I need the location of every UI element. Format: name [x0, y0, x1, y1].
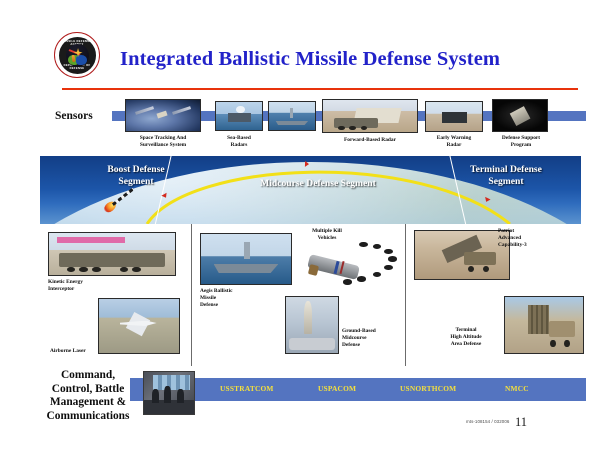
silo-base-icon: [289, 338, 335, 349]
segment-label-boost: Boost DefenseSegment: [70, 164, 202, 189]
satellite-body-icon: [157, 111, 168, 119]
defense-segments-band: Boost DefenseSegment Midcourse Defense S…: [40, 156, 581, 224]
caption-defense-support-program: Defense SupportProgram: [490, 135, 552, 149]
c2bmc-connector-bar: USSTRATCOM USPACOM USNORTHCOM NMCC: [130, 378, 586, 401]
truck-wheel-icon: [338, 126, 345, 130]
column-divider-midcourse-terminal: [405, 224, 406, 366]
thumb-kinetic-energy-interceptor: [48, 232, 176, 276]
thumb-early-warning-radar: [425, 101, 483, 132]
patriot-wheel-icon: [483, 266, 490, 273]
thumb-aegis-ballistic-missile-defense: [200, 233, 292, 285]
c2bmc-node-usnorthcom: USNORTHCOM: [400, 384, 456, 393]
caption-space-tracking-surveillance-system: Space Tracking AndSurveillance System: [106, 135, 220, 149]
command-center-display-wall-icon: [153, 375, 190, 389]
kill-vehicle-icon: [384, 265, 393, 270]
thumb-command-center: [143, 371, 195, 415]
column-divider-boost-midcourse: [191, 224, 192, 366]
truck-wheel-icon: [349, 126, 356, 130]
document-control-code: mts-108154 / 032006: [466, 419, 509, 424]
kei-transporter-icon: [59, 253, 165, 267]
kei-overlay-bar: [57, 237, 125, 243]
thaad-wheel-icon: [550, 340, 555, 348]
segment-label-terminal: Terminal DefenseSegment: [438, 164, 574, 189]
c2bmc-node-nmcc: NMCC: [505, 384, 529, 393]
thumb-forward-based-radar: [322, 99, 418, 133]
thumb-ground-based-midcourse-defense: [285, 296, 339, 354]
segment-label-midcourse: Midcourse Defense Segment: [186, 178, 450, 190]
patriot-wheel-icon: [468, 266, 475, 273]
caption-early-warning-radar: Early WarningRadar: [422, 135, 486, 149]
kill-vehicle-icon: [359, 242, 368, 247]
seal-emblem: [66, 44, 89, 67]
operator-silhouette-icon: [177, 389, 184, 403]
kill-vehicle-icon: [343, 279, 352, 284]
multiple-kill-vehicles-graphic: [300, 240, 398, 288]
intercept-marker-midcourse: [305, 161, 309, 167]
operator-silhouette-icon: [152, 389, 159, 403]
kei-wheel-icon: [92, 267, 101, 273]
page-number: 11: [515, 415, 527, 430]
kill-vehicle-icon: [388, 256, 397, 261]
thumb-sea-based-radars: [215, 101, 263, 131]
thaad-truck-cab-icon: [549, 321, 576, 338]
satellite-panel-left-icon: [135, 106, 154, 115]
caption-forward-based-radar: Forward-Based Radar: [306, 137, 434, 144]
kei-wheel-icon: [79, 267, 88, 273]
caption-aegis-ballistic-missile-defense: Aegis BallisticMissileDefense: [200, 288, 264, 309]
kill-vehicle-icon: [373, 244, 382, 249]
sea-platform-icon: [228, 113, 251, 121]
thumb-patriot-advanced-capability-3: [414, 230, 510, 280]
kill-vehicle-icon: [357, 276, 366, 281]
caption-patriot-advanced-capability-3: PatriotAdvancedCapability-3: [498, 228, 562, 249]
ship-mast-icon: [290, 108, 293, 118]
caption-ground-based-midcourse-defense: Ground-BasedMidcourseDefense: [342, 328, 404, 349]
slide-canvas: MISSILE DEFENSE AGENCY DEPARTMENT OF DEF…: [0, 0, 600, 463]
gmd-interceptor-icon: [304, 301, 312, 333]
thumb-terminal-high-altitude-area-defense: [504, 296, 584, 354]
airborne-laser-aircraft-icon: [120, 321, 157, 326]
kill-vehicle-icon: [373, 272, 382, 277]
mkv-nose-icon: [308, 264, 319, 275]
kei-wheel-icon: [132, 267, 141, 273]
caption-kinetic-energy-interceptor: Kinetic EnergyInterceptor: [48, 279, 128, 293]
thaad-wheel-icon: [564, 340, 569, 348]
title-divider-rule: [62, 88, 578, 90]
page-title: Integrated Ballistic Missile Defense Sys…: [120, 48, 540, 71]
satellite-panel-right-icon: [172, 106, 191, 115]
thumb-space-tracking-surveillance-system: [125, 99, 201, 132]
caption-airborne-laser: Airborne Laser: [50, 348, 108, 355]
caption-sea-based-radars: Sea-BasedRadars: [213, 135, 265, 149]
aegis-mast-icon: [244, 242, 249, 259]
dsp-satellite-icon: [510, 106, 531, 126]
thumb-defense-support-program: [492, 99, 548, 132]
seal-ocean: [76, 55, 87, 65]
c2bmc-heading: Command,Control, BattleManagement &Commu…: [36, 369, 140, 424]
ewr-phased-array-icon: [442, 112, 468, 123]
operator-silhouette-icon: [164, 386, 171, 403]
caption-terminal-high-altitude-area-defense: TerminalHigh AltitudeArea Defense: [430, 327, 502, 348]
thaad-launch-tubes-icon: [528, 305, 548, 334]
kill-vehicle-icon: [384, 249, 393, 254]
ship-hull-icon: [275, 121, 308, 125]
aegis-hull-icon: [214, 264, 279, 273]
caption-multiple-kill-vehicles: Multiple KillVehicles: [296, 228, 358, 242]
kei-wheel-icon: [120, 267, 129, 273]
kei-wheel-icon: [67, 267, 76, 273]
patriot-truck-cab-icon: [464, 252, 496, 264]
missile-defense-agency-seal-icon: MISSILE DEFENSE AGENCY DEPARTMENT OF DEF…: [54, 32, 100, 78]
seal-ring: MISSILE DEFENSE AGENCY DEPARTMENT OF DEF…: [58, 36, 97, 75]
sensors-heading: Sensors: [55, 110, 93, 122]
radome-icon: [236, 106, 244, 113]
thumb-radar-ship: [268, 101, 316, 131]
truck-wheel-icon: [361, 126, 368, 130]
thumb-airborne-laser: [98, 298, 180, 354]
c2bmc-node-usstratcom: USSTRATCOM: [220, 384, 274, 393]
c2bmc-node-uspacom: USPACOM: [318, 384, 356, 393]
